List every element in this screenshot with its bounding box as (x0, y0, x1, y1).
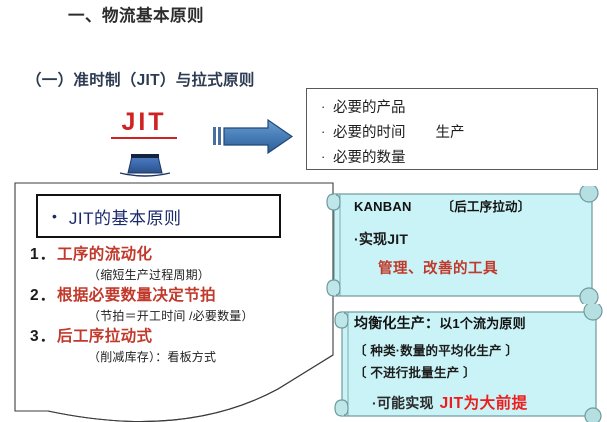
kanban-box: KANBAN〔后工序拉动〕 ·实现JIT 管理、改善的工具 (324, 186, 600, 304)
kanban-title-row: KANBAN〔后工序拉动〕 (354, 196, 530, 216)
requirements-box: ·必要的产品 ·必要的时间生产 ·必要的数量 (306, 88, 598, 170)
page-title: 一、物流基本原则 (68, 2, 204, 26)
principle-number: 1． (30, 247, 57, 263)
requirement-tail: 生产 (436, 122, 465, 145)
leveling-final-row: ·可能实现JIT为大前提 (372, 391, 528, 413)
principle-subtext: （削减库存）：看板方式 (88, 348, 334, 365)
bullet-glyph: · (321, 95, 333, 118)
leveling-bracket-2: 〔 不进行批量生产 〕 (354, 362, 528, 381)
jit-logo-text: JIT (104, 110, 184, 135)
principle-item: 1．工序的流动化 (30, 247, 334, 263)
leveling-bracket-1: 〔 种类·数量的平均化生产 〕 (354, 340, 528, 359)
principle-item: 3．后工序拉动式 (30, 329, 334, 345)
leveling-heading-bold: 均衡化生产： (354, 315, 439, 331)
right-arrow-icon (212, 117, 296, 157)
bullet-glyph: • (52, 209, 57, 223)
blue-cylinder-icon (118, 150, 172, 180)
principle-item: 2．根据必要数量决定节拍 (30, 288, 334, 304)
requirement-text: 必要的时间 (333, 125, 406, 141)
principle-subtext: （节拍＝开工时间 /必要数量） (88, 307, 334, 324)
requirement-row: ·必要的数量 (321, 145, 597, 170)
section-subtitle: （一）准时制（JIT）与拉式原则 (26, 68, 255, 90)
leveling-final-highlight: JIT为大前提 (440, 395, 528, 412)
bullet-glyph: · (321, 145, 333, 168)
slide-canvas: 一、物流基本原则 （一）准时制（JIT）与拉式原则 JIT (0, 0, 607, 422)
leveling-content: 均衡化生产：以1个流为原则 〔 种类·数量的平均化生产 〕 〔 不进行批量生产 … (332, 304, 528, 413)
principle-subtext: （缩短生产过程周期） (88, 266, 334, 283)
requirement-row: ·必要的产品 (321, 95, 597, 120)
kanban-label: KANBAN (354, 199, 412, 214)
requirement-text: 必要的数量 (333, 150, 406, 166)
principle-number: 3． (30, 329, 57, 345)
kanban-line-2: 管理、改善的工具 (378, 257, 530, 278)
leveling-final-plain: ·可能实现 (372, 395, 434, 411)
jit-logo: JIT (104, 110, 184, 139)
principle-heading: 根据必要数量决定节拍 (57, 287, 216, 304)
bullet-glyph: · (321, 120, 333, 143)
kanban-bracket-note: 〔后工序拉动〕 (442, 200, 531, 214)
leveling-box: 均衡化生产：以1个流为原则 〔 种类·数量的平均化生产 〕 〔 不进行批量生产 … (332, 304, 604, 422)
principle-heading: 后工序拉动式 (57, 328, 152, 345)
leveling-heading: 均衡化生产：以1个流为原则 (354, 313, 528, 333)
jit-logo-underline (111, 137, 177, 139)
principle-heading: 工序的流动化 (57, 246, 152, 263)
principles-list: 1．工序的流动化 （缩短生产过程周期） 2．根据必要数量决定节拍 （节拍＝开工时… (14, 247, 334, 365)
jit-principle-header-box: • JIT的基本原则 (36, 194, 281, 238)
jit-principle-header-text: JIT的基本原则 (69, 204, 182, 229)
leveling-heading-rest: 以1个流为原则 (439, 316, 526, 331)
requirement-text: 必要的产品 (333, 100, 406, 116)
kanban-line-1: ·实现JIT (354, 229, 530, 249)
principles-content: • JIT的基本原则 1．工序的流动化 （缩短生产过程周期） 2．根据必要数量决… (14, 182, 334, 370)
principle-number: 2． (30, 288, 57, 304)
principles-box: • JIT的基本原则 1．工序的流动化 （缩短生产过程周期） 2．根据必要数量决… (14, 182, 334, 422)
kanban-content: KANBAN〔后工序拉动〕 ·实现JIT 管理、改善的工具 (324, 186, 530, 278)
requirement-row: ·必要的时间生产 (321, 120, 597, 145)
